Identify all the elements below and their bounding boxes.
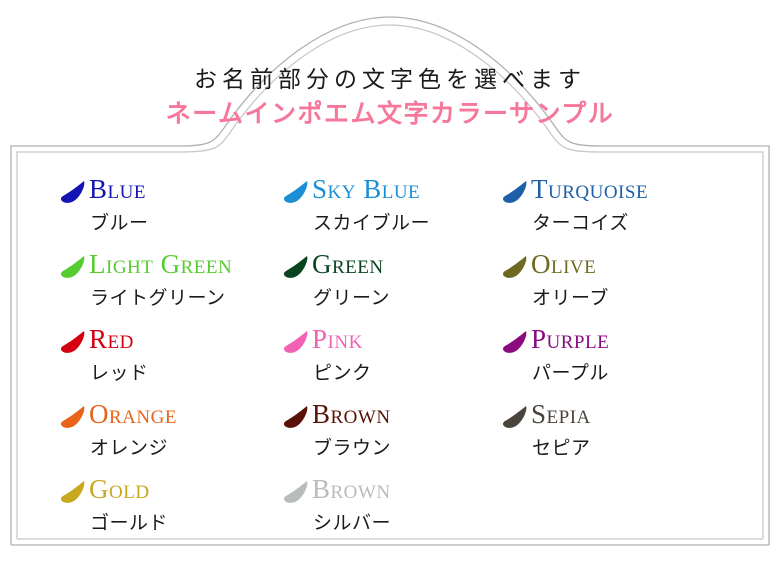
color-name-en: Light Green [89,251,232,278]
color-option-blue[interactable]: Blueブルー [0,176,267,251]
header-subtitle: お名前部分の文字色を選べます [0,66,780,95]
color-swatch-line: Olive [500,251,780,281]
brush-stroke-icon [500,404,528,430]
color-option-red[interactable]: Redレッド [0,326,267,401]
color-option-sky-blue[interactable]: Sky Blueスカイブルー [267,176,500,251]
color-name-jp: パープル [532,358,780,385]
page-title: ネームインポエム文字カラーサンプル [0,98,780,131]
color-name-jp: シルバー [313,508,500,535]
color-row: GoldゴールドBrownシルバー [0,476,780,551]
brush-stroke-icon [500,254,528,280]
color-swatch-line: Turquoise [500,176,780,206]
color-option-pink[interactable]: Pinkピンク [267,326,500,401]
brush-stroke-icon [281,329,309,355]
color-swatch-line: Brown [281,476,500,506]
color-name-en: Purple [531,326,609,353]
brush-stroke-icon [58,329,86,355]
color-swatch-line: Red [58,326,267,356]
color-name-jp: スカイブルー [313,208,500,235]
color-option-purple[interactable]: Purpleパープル [500,326,780,401]
color-row: OrangeオレンジBrownブラウンSepiaセピア [0,401,780,476]
color-sample-grid: BlueブルーSky BlueスカイブルーTurquoiseターコイズLight… [0,176,780,551]
color-name-en: Blue [89,176,146,203]
color-name-jp: ブラウン [313,433,500,460]
color-name-en: Sepia [531,401,591,428]
color-name-en: Gold [89,476,150,503]
color-row: RedレッドPinkピンクPurpleパープル [0,326,780,401]
color-row: Light GreenライトグリーンGreenグリーンOliveオリーブ [0,251,780,326]
brush-stroke-icon [58,179,86,205]
color-row: BlueブルーSky BlueスカイブルーTurquoiseターコイズ [0,176,780,251]
color-swatch-line: Brown [281,401,500,431]
brush-stroke-icon [58,404,86,430]
color-option-sepia[interactable]: Sepiaセピア [500,401,780,476]
color-option-green[interactable]: Greenグリーン [267,251,500,326]
color-name-jp: セピア [532,433,780,460]
color-name-en: Pink [312,326,363,353]
color-name-jp: オレンジ [90,433,267,460]
color-swatch-line: Gold [58,476,267,506]
color-option-brown[interactable]: Brownシルバー [267,476,500,551]
page-header: お名前部分の文字色を選べます ネームインポエム文字カラーサンプル [0,66,780,130]
color-name-jp: ターコイズ [532,208,780,235]
brush-stroke-icon [281,254,309,280]
color-option-light-green[interactable]: Light Greenライトグリーン [0,251,267,326]
color-name-jp: ブルー [90,208,267,235]
color-option-orange[interactable]: Orangeオレンジ [0,401,267,476]
brush-stroke-icon [500,179,528,205]
color-name-jp: ゴールド [90,508,267,535]
color-name-jp: グリーン [313,283,500,310]
color-swatch-line: Sepia [500,401,780,431]
color-swatch-line: Blue [58,176,267,206]
brush-stroke-icon [58,254,86,280]
color-name-jp: ピンク [313,358,500,385]
color-name-en: Red [89,326,134,353]
color-option-turquoise[interactable]: Turquoiseターコイズ [500,176,780,251]
color-swatch-line: Sky Blue [281,176,500,206]
color-name-en: Orange [89,401,177,428]
color-name-jp: オリーブ [532,283,780,310]
color-option-brown[interactable]: Brownブラウン [267,401,500,476]
brush-stroke-icon [281,479,309,505]
brush-stroke-icon [58,479,86,505]
color-name-en: Green [312,251,384,278]
color-swatch-line: Light Green [58,251,267,281]
color-name-en: Olive [531,251,596,278]
brush-stroke-icon [281,404,309,430]
color-name-en: Brown [312,401,391,428]
color-cell-empty [500,476,780,551]
color-name-en: Turquoise [531,176,648,203]
color-option-olive[interactable]: Oliveオリーブ [500,251,780,326]
color-name-en: Brown [312,476,391,503]
color-name-en: Sky Blue [312,176,420,203]
color-option-gold[interactable]: Goldゴールド [0,476,267,551]
brush-stroke-icon [500,329,528,355]
color-name-jp: ライトグリーン [90,283,267,310]
color-swatch-line: Orange [58,401,267,431]
brush-stroke-icon [281,179,309,205]
color-swatch-line: Purple [500,326,780,356]
color-swatch-line: Green [281,251,500,281]
color-name-jp: レッド [90,358,267,385]
color-swatch-line: Pink [281,326,500,356]
